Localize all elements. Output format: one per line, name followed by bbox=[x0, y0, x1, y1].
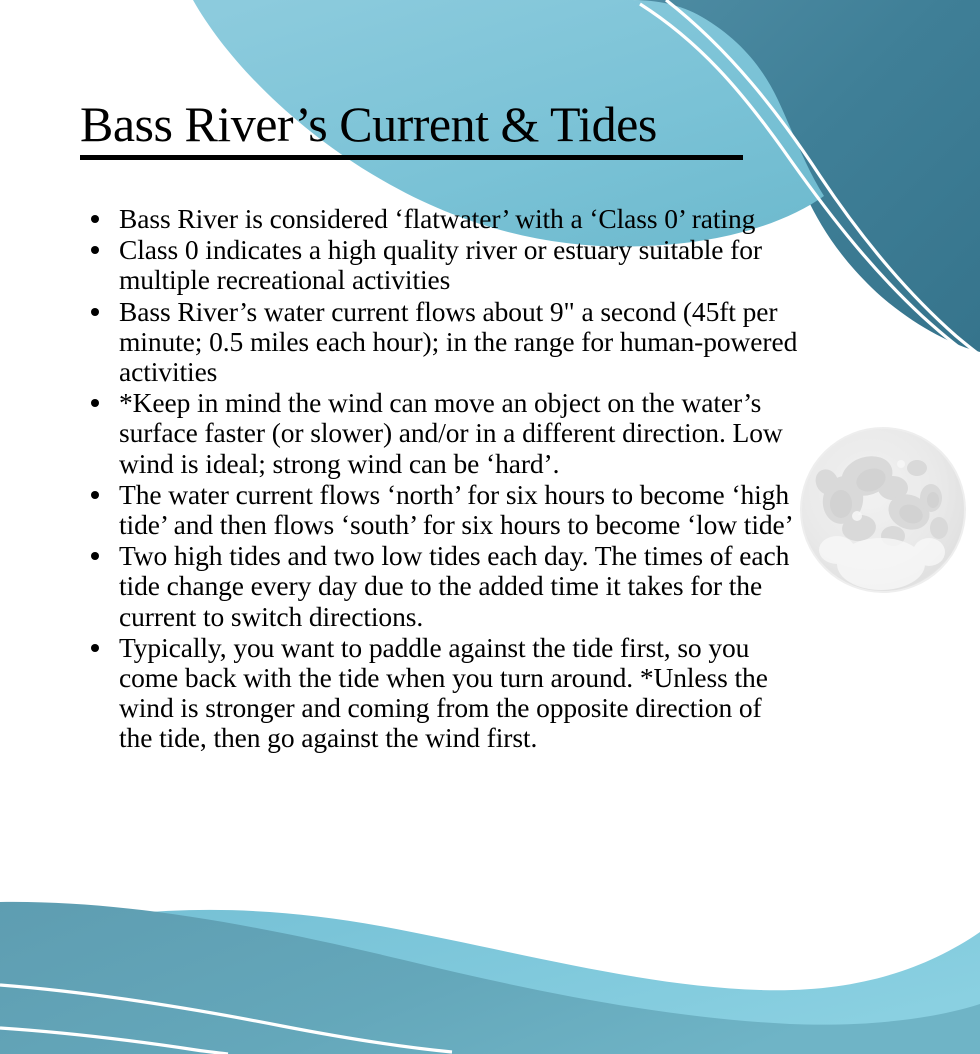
list-item-text: Class 0 indicates a high quality river o… bbox=[119, 235, 800, 295]
list-item: The water current flows ‘north’ for six … bbox=[88, 480, 800, 540]
bullet-dot-icon bbox=[91, 308, 99, 316]
bullet-dot-icon bbox=[91, 246, 99, 254]
bullet-dot-icon bbox=[91, 644, 99, 652]
list-item: Bass River’s water current flows about 9… bbox=[88, 297, 800, 388]
bullet-dot-icon bbox=[91, 491, 99, 499]
list-item: *Keep in mind the wind can move an objec… bbox=[88, 388, 800, 479]
list-item: Bass River is considered ‘flatwater’ wit… bbox=[88, 204, 800, 234]
list-item-text: Two high tides and two low tides each da… bbox=[119, 541, 800, 632]
bullet-dot-icon bbox=[91, 552, 99, 560]
bullet-dot-icon bbox=[91, 215, 99, 223]
list-item-text: *Keep in mind the wind can move an objec… bbox=[119, 388, 800, 479]
slide-canvas: Bass River’s Current & Tides Bass River … bbox=[0, 0, 980, 1054]
list-item-text: Bass River is considered ‘flatwater’ wit… bbox=[119, 204, 800, 234]
list-item-text: Typically, you want to paddle against th… bbox=[119, 633, 800, 754]
title-underline-rule bbox=[80, 155, 743, 160]
slide-content: Bass River’s Current & Tides Bass River … bbox=[0, 0, 980, 1054]
page-title: Bass River’s Current & Tides bbox=[80, 97, 780, 151]
bullet-list: Bass River is considered ‘flatwater’ wit… bbox=[88, 204, 800, 755]
title-block: Bass River’s Current & Tides bbox=[80, 97, 780, 160]
list-item-text: The water current flows ‘north’ for six … bbox=[119, 480, 800, 540]
bullet-dot-icon bbox=[91, 399, 99, 407]
list-item: Class 0 indicates a high quality river o… bbox=[88, 235, 800, 295]
list-item-text: Bass River’s water current flows about 9… bbox=[119, 297, 800, 388]
list-item: Two high tides and two low tides each da… bbox=[88, 541, 800, 632]
list-item: Typically, you want to paddle against th… bbox=[88, 633, 800, 754]
